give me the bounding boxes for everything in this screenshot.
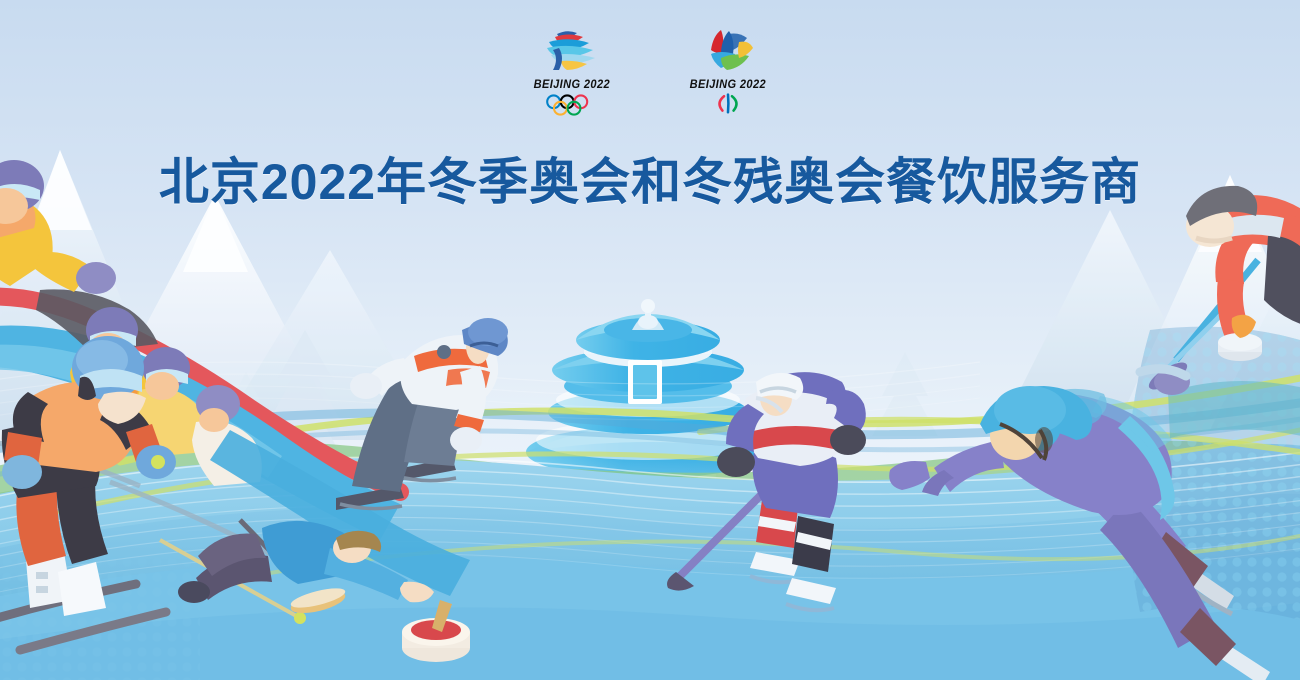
olympic-emblem-block: BEIJING 2022 bbox=[517, 28, 627, 117]
beijing-2022-olympic-mark bbox=[535, 28, 609, 76]
olympic-wordmark: BEIJING 2022 bbox=[534, 79, 610, 91]
emblem-row: BEIJING 2022 BEIJING 20 bbox=[0, 28, 1300, 123]
paralympic-agitos-icon bbox=[700, 93, 756, 117]
paralympic-emblem-block: BEIJING 2022 bbox=[673, 28, 783, 117]
olympic-banner: BEIJING 2022 BEIJING 20 bbox=[0, 0, 1300, 680]
beijing-2022-paralympic-mark bbox=[691, 28, 765, 76]
paralympic-wordmark: BEIJING 2022 bbox=[690, 79, 766, 91]
olympic-rings-icon bbox=[544, 93, 600, 117]
page-title: 北京2022年冬季奥会和冬残奥会餐饮服务商 bbox=[0, 142, 1300, 214]
